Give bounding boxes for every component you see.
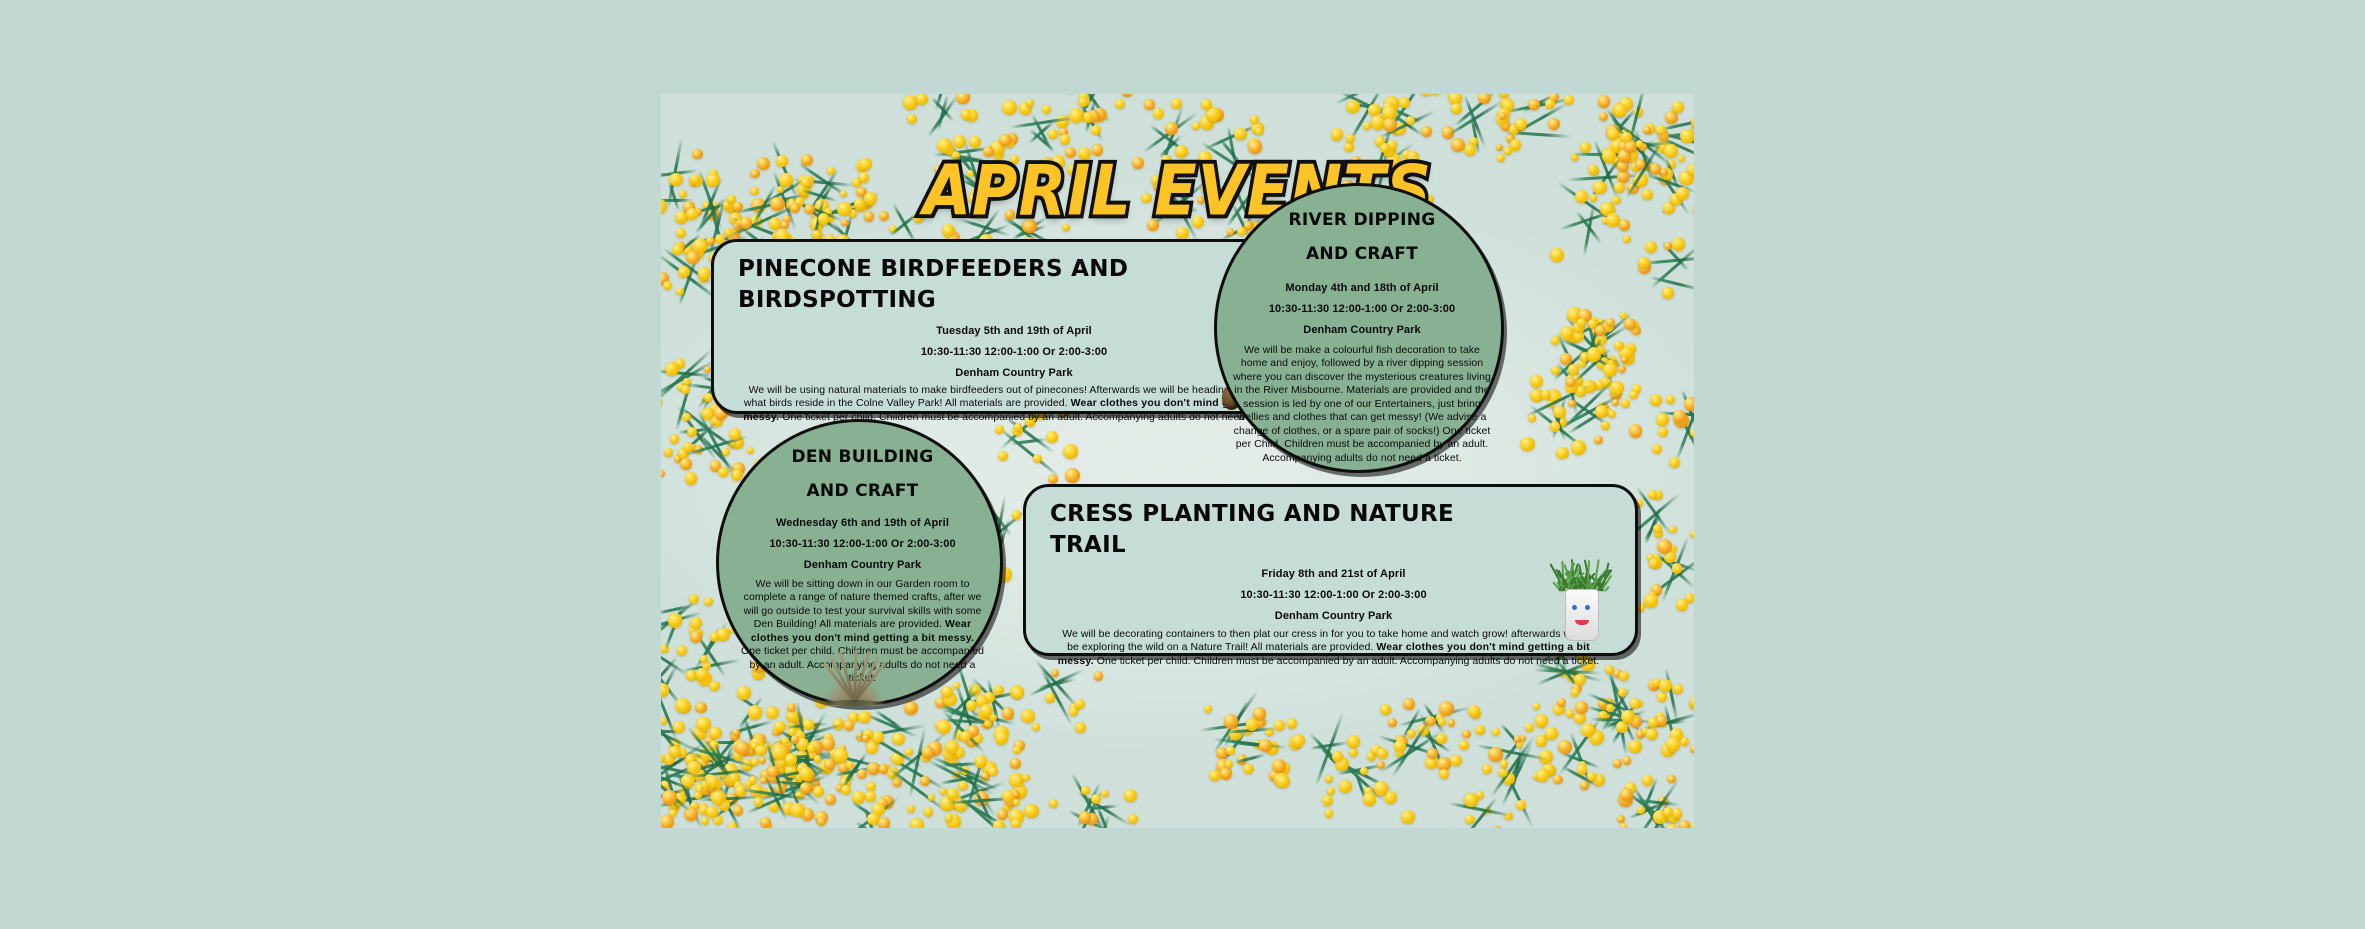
event-heading-line2: AND CRAFT bbox=[1217, 237, 1507, 271]
event-heading: PINECONE BIRDFEEDERS AND BIRDSPOTTING bbox=[738, 254, 1238, 316]
event-heading: CRESS PLANTING AND NATURE TRAIL bbox=[1050, 499, 1570, 561]
poster-stage: APRIL EVENTS PINECONE BIRDFEEDERS AND BI… bbox=[0, 0, 2365, 929]
poster-title-area: APRIL EVENTS bbox=[661, 154, 1694, 227]
event-heading-line2: TRAIL bbox=[1050, 530, 1570, 561]
event-location: Denham Country Park bbox=[1217, 319, 1507, 342]
cress-pot-photo bbox=[1554, 551, 1608, 645]
event-card-river-dipping: RIVER DIPPING AND CRAFT Monday 4th and 1… bbox=[1214, 183, 1504, 473]
event-heading-line1: RIVER DIPPING bbox=[1217, 203, 1507, 237]
event-heading-line1: CRESS PLANTING AND NATURE bbox=[1050, 499, 1570, 530]
event-location: Denham Country Park bbox=[719, 554, 1006, 577]
event-heading-line1: DEN BUILDING bbox=[719, 440, 1006, 474]
event-date: Wednesday 6th and 19th of April bbox=[719, 512, 1006, 535]
event-card-cress-planting: CRESS PLANTING AND NATURE TRAIL Friday 8… bbox=[1023, 484, 1638, 656]
event-description: We will be using natural materials to ma… bbox=[742, 384, 1286, 424]
event-heading-line2: AND CRAFT bbox=[719, 474, 1006, 508]
event-description: We will be decorating containers to then… bbox=[1056, 628, 1601, 668]
event-times: 10:30-11:30 12:00-1:00 Or 2:00-3:00 bbox=[719, 533, 1006, 556]
event-description: We will be make a colourful fish decorat… bbox=[1233, 344, 1491, 465]
event-date: Monday 4th and 18th of April bbox=[1217, 277, 1507, 300]
event-heading: DEN BUILDING AND CRAFT bbox=[719, 440, 1006, 508]
den-teepee-photo bbox=[817, 644, 891, 706]
event-times: 10:30-11:30 12:00-1:00 Or 2:00-3:00 bbox=[1026, 584, 1641, 607]
april-events-poster: APRIL EVENTS PINECONE BIRDFEEDERS AND BI… bbox=[661, 94, 1694, 828]
event-card-den-building: DEN BUILDING AND CRAFT Wednesday 6th and… bbox=[716, 419, 1003, 706]
event-heading-line1: PINECONE BIRDFEEDERS AND bbox=[738, 254, 1238, 285]
event-location: Denham Country Park bbox=[1026, 605, 1641, 628]
event-description-part2: One ticket per child. Children must be a… bbox=[1094, 655, 1600, 667]
event-date: Friday 8th and 21st of April bbox=[1026, 563, 1641, 586]
event-heading: RIVER DIPPING AND CRAFT bbox=[1217, 203, 1507, 271]
event-heading-line2: BIRDSPOTTING bbox=[738, 285, 1238, 316]
event-description-part1: We will be make a colourful fish decorat… bbox=[1233, 344, 1491, 464]
event-times: 10:30-11:30 12:00-1:00 Or 2:00-3:00 bbox=[1217, 298, 1507, 321]
